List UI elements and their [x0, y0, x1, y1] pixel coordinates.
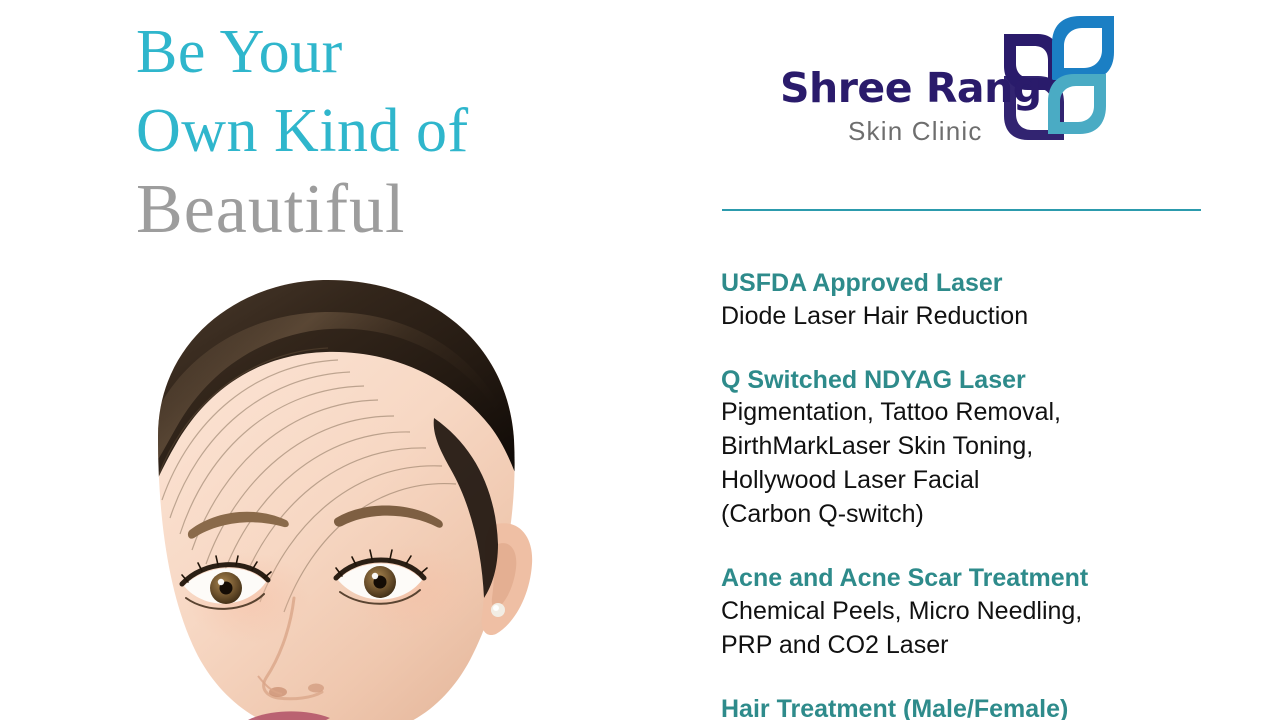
service-description: Chemical Peels, Micro Needling,PRP and C… [721, 594, 1266, 662]
horizontal-divider [722, 209, 1201, 211]
headline-line-2: Own Kind of [136, 101, 696, 162]
service-title: Acne and Acne Scar Treatment [721, 563, 1266, 594]
clinic-logo: Shree Rang Skin Clinic [780, 10, 1120, 155]
services-list: USFDA Approved LaserDiode Laser Hair Red… [721, 268, 1266, 720]
service-description-line: PRP and CO2 Laser [721, 628, 1266, 662]
service-description: Diode Laser Hair Reduction [721, 299, 1266, 333]
headline-line-1: Be Your [136, 22, 696, 83]
service-title: Hair Treatment (Male/Female) [721, 694, 1266, 720]
headline-line-3: Beautiful [136, 176, 696, 245]
logo-subtitle: Skin Clinic [848, 116, 983, 147]
service-description-line: Hollywood Laser Facial [721, 463, 1266, 497]
service-description: Pigmentation, Tattoo Removal,BirthMarkLa… [721, 395, 1266, 531]
service-description-line: BirthMarkLaser Skin Toning, [721, 429, 1266, 463]
service-description-line: Pigmentation, Tattoo Removal, [721, 395, 1266, 429]
logo-wordmark: Shree Rang [780, 64, 1042, 112]
service-block: Q Switched NDYAG LaserPigmentation, Tatt… [721, 365, 1266, 532]
service-title: Q Switched NDYAG Laser [721, 365, 1266, 396]
service-title: USFDA Approved Laser [721, 268, 1266, 299]
service-description-line: Diode Laser Hair Reduction [721, 299, 1266, 333]
model-portrait-image [98, 268, 668, 720]
service-description-line: (Carbon Q-switch) [721, 497, 1266, 531]
poster-canvas: Be Your Own Kind of Beautiful [0, 0, 1278, 720]
headline: Be Your Own Kind of Beautiful [136, 22, 696, 244]
service-description-line: Chemical Peels, Micro Needling, [721, 594, 1266, 628]
service-block: Hair Treatment (Male/Female) [721, 694, 1266, 720]
service-block: Acne and Acne Scar TreatmentChemical Pee… [721, 563, 1266, 662]
service-block: USFDA Approved LaserDiode Laser Hair Red… [721, 268, 1266, 333]
